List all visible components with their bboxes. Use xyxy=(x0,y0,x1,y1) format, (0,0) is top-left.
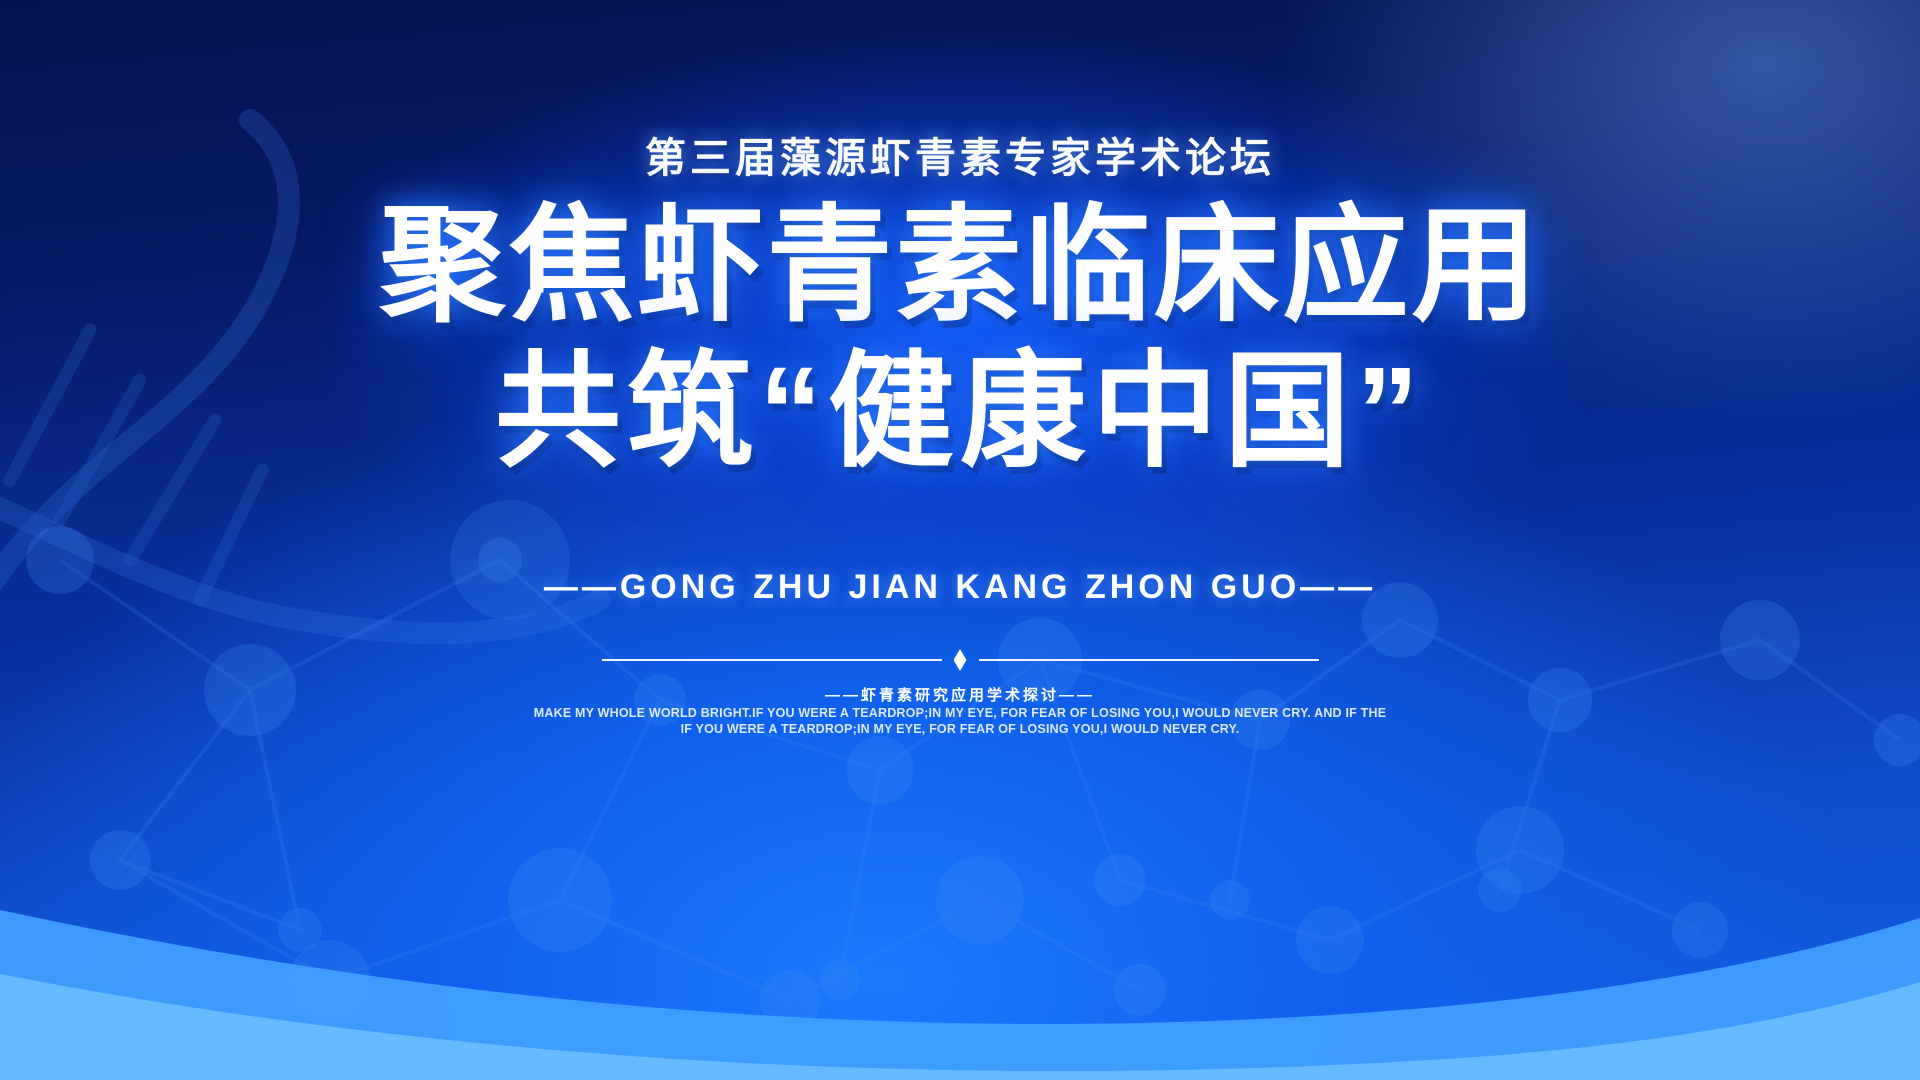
english-line-1: MAKE MY WHOLE WORLD BRIGHT.IF YOU WERE A… xyxy=(0,706,1920,720)
main-title: 聚焦虾青素临床应用 共筑“健康中国” xyxy=(0,193,1920,485)
title-line-1: 聚焦虾青素临床应用 xyxy=(0,193,1920,339)
event-kicker: 第三届藻源虾青素专家学术论坛 xyxy=(0,124,1920,184)
subtopic-cn: ——虾青素研究应用学术探讨—— xyxy=(0,684,1920,705)
divider-bar-right xyxy=(979,659,1319,661)
divider-bar-left xyxy=(602,659,942,661)
title-line-2: 共筑“健康中国” xyxy=(0,339,1920,485)
poster-canvas: 第三届藻源虾青素专家学术论坛 聚焦虾青素临床应用 共筑“健康中国” ——GONG… xyxy=(0,0,1920,1080)
divider xyxy=(0,640,1920,680)
pinyin-subtitle: ——GONG ZHU JIAN KANG ZHON GUO—— xyxy=(0,568,1920,607)
poster-content: 第三届藻源虾青素专家学术论坛 聚焦虾青素临床应用 共筑“健康中国” ——GONG… xyxy=(0,0,1920,1080)
english-line-2: IF YOU WERE A TEARDROP;IN MY EYE, FOR FE… xyxy=(0,722,1920,736)
diamond-icon xyxy=(954,649,967,671)
